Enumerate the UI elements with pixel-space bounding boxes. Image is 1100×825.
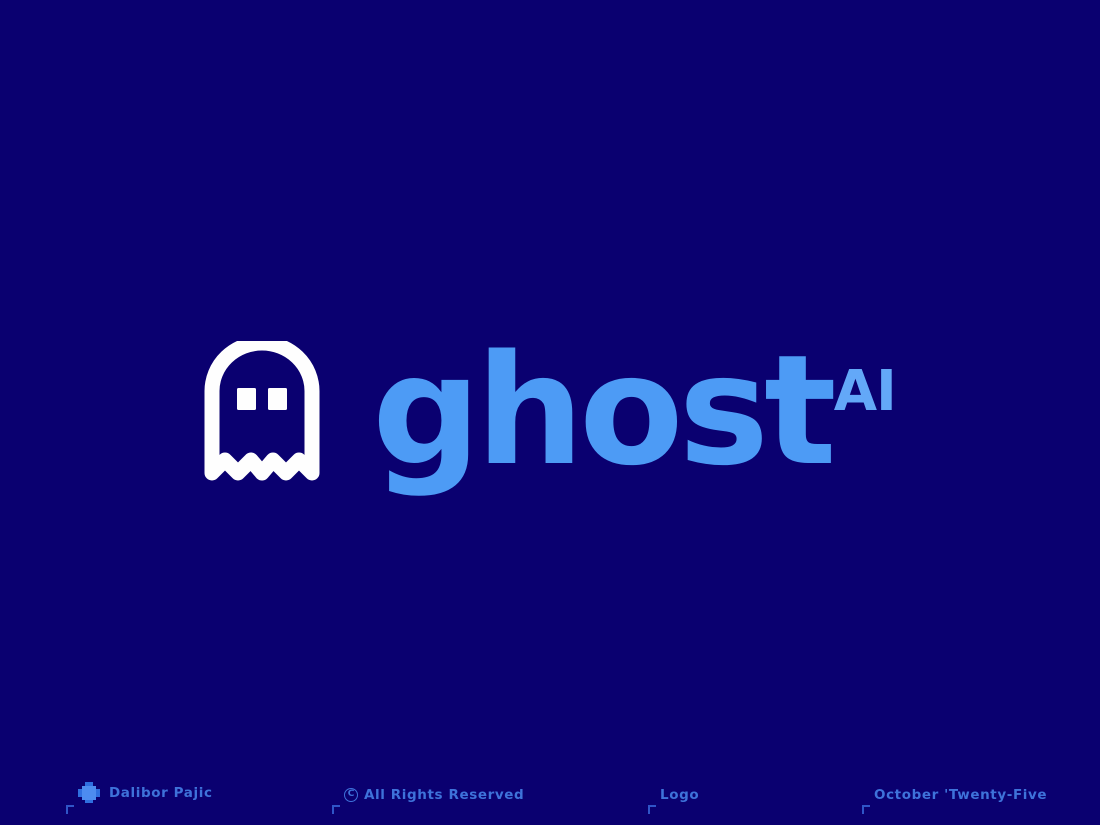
corner-bracket-icon [332, 805, 340, 814]
wordmark-text: ghost [372, 346, 832, 477]
copyright-icon: C [344, 788, 358, 802]
footer-label-author: Dalibor Pajic [109, 785, 213, 801]
ghost-right-eye-icon [268, 388, 287, 410]
presentation-canvas: ghost AI Dalibor Pajic C All Rights Rese… [0, 0, 1100, 825]
footer-label-project-type: Logo [660, 787, 699, 803]
ghost-left-eye-icon [237, 388, 256, 410]
wordmark-group: ghost AI [372, 346, 896, 477]
logo-lockup: ghost AI [0, 0, 1100, 825]
corner-bracket-icon [862, 805, 870, 814]
wordmark-superscript: AI [834, 364, 896, 420]
footer-item-date: October 'Twenty-Five [874, 787, 1047, 803]
footer-label-date: October 'Twenty-Five [874, 787, 1047, 803]
footer-item-rights: C All Rights Reserved [344, 787, 524, 803]
footer-label-rights: All Rights Reserved [364, 787, 524, 803]
corner-bracket-icon [648, 805, 656, 814]
footer-item-project-type: Logo [660, 787, 699, 803]
ghost-body-outline [212, 343, 312, 473]
plus-icon [78, 782, 100, 803]
footer-bar: Dalibor Pajic C All Rights Reserved Logo… [0, 765, 1100, 825]
footer-item-author: Dalibor Pajic [78, 782, 213, 803]
ghost-mark [204, 341, 320, 481]
corner-bracket-icon [66, 805, 74, 814]
